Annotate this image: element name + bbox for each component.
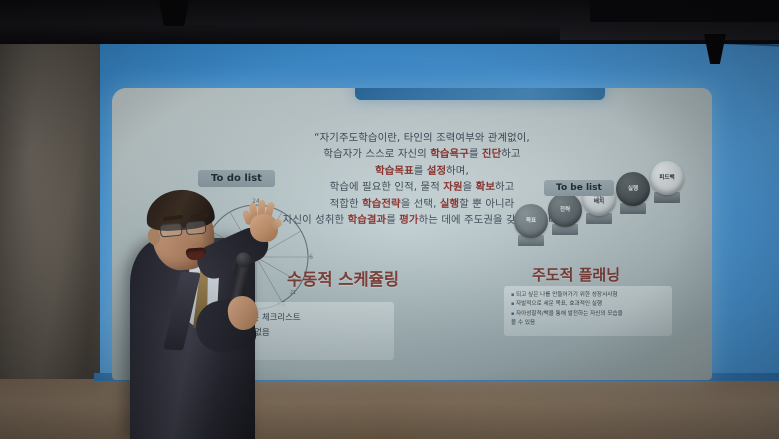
proactive-planning-heading: 주도적 플래닝 — [532, 264, 620, 285]
svg-text:6: 6 — [309, 254, 313, 261]
slide-title: 자기주도학습 플래닝 원리 — [392, 88, 567, 89]
to-be-list-tag: To be list — [544, 180, 614, 196]
to-be-note-line: 자발적으로 세운 목표, 효과적인 실행 — [511, 300, 665, 309]
ceiling-beam-upper — [590, 0, 779, 22]
svg-text:21: 21 — [290, 290, 296, 296]
quote-line-1: “자기주도학습이란, 타인의 조력여부와 관계없이, — [220, 130, 624, 146]
left-brown-wall — [0, 0, 100, 439]
to-be-note-box: 되고 싶은 나를 만들어가기 위한 성장서사형 자발적으로 세운 목표, 효과적… — [504, 286, 672, 336]
passive-scheduling-heading: 수동적 스케쥴링 — [287, 266, 399, 290]
to-do-list-tag: To do list — [198, 170, 275, 187]
to-be-note-line: 볼 수 있음 — [511, 319, 665, 328]
to-be-note-line: 자아성찰적/백을 통해 발전하는 자신의 모습을 — [511, 310, 665, 319]
step-label: 피드백 — [659, 175, 674, 181]
to-be-steps-diagram: 목표 전략 시간 배치 실행 — [514, 206, 684, 268]
step-label: 실행 — [628, 186, 638, 192]
step-label: 전략 — [560, 207, 570, 213]
to-be-note-line: 되고 싶은 나를 만들어가기 위한 성장서사형 — [511, 291, 665, 300]
quote-line-3: 학습목표를 설정하며, — [220, 163, 624, 179]
lecture-photo-scene: 자기주도학습 플래닝 원리 “자기주도학습이란, 타인의 조력여부와 관계없이,… — [0, 0, 779, 439]
step-label: 목표 — [526, 218, 536, 224]
quote-line-2: 학습자가 스스로 자신의 학습욕구를 진단하고 — [220, 146, 624, 162]
presenter-raised-hand — [246, 202, 282, 242]
floor — [0, 379, 779, 439]
slide-title-banner: 자기주도학습 플래닝 원리 — [355, 88, 605, 100]
